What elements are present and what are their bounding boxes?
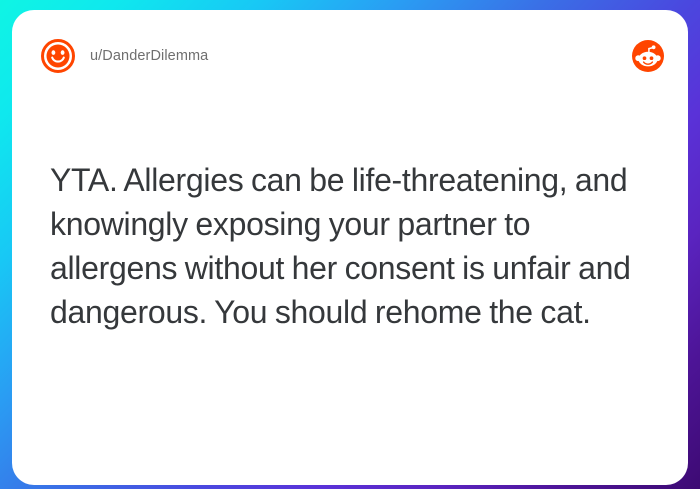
smiley-face-avatar-icon[interactable] [40,38,76,74]
post-header: u/DanderDilemma [40,34,664,78]
screenshot-frame: u/DanderDilemma [0,0,700,489]
reddit-snoo-logo-icon[interactable] [632,40,664,72]
post-username[interactable]: u/DanderDilemma [90,48,208,64]
reddit-post-card: u/DanderDilemma [12,10,688,485]
post-body-text: YTA. Allergies can be life-threatening, … [50,158,648,334]
